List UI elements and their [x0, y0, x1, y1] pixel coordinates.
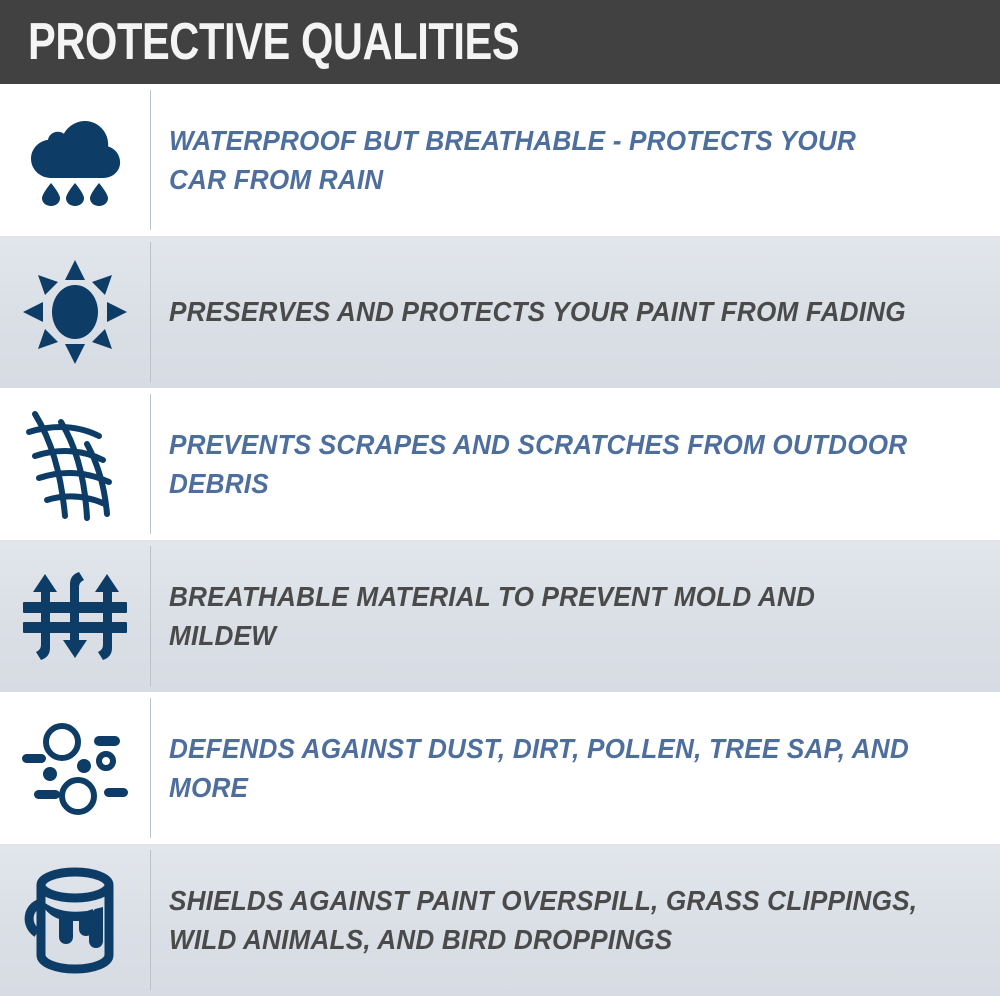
- feature-text: SHIELDS AGAINST PAINT OVERSPILL, GRASS C…: [169, 881, 920, 959]
- icon-cell: [0, 84, 150, 236]
- rain-cloud-icon: [19, 110, 131, 210]
- feature-text: DEFENDS AGAINST DUST, DIRT, POLLEN, TREE…: [169, 729, 920, 807]
- feature-row: SHIELDS AGAINST PAINT OVERSPILL, GRASS C…: [0, 844, 1000, 996]
- feature-row: DEFENDS AGAINST DUST, DIRT, POLLEN, TREE…: [0, 692, 1000, 844]
- icon-cell: [0, 540, 150, 692]
- airflow-arrows-icon: [23, 562, 127, 670]
- dust-particles-icon: [20, 716, 130, 820]
- icon-cell: [0, 236, 150, 388]
- infographic-page: PROTECTIVE QUALITIES WATERPROOF BUT BREA…: [0, 0, 1000, 1000]
- paint-can-icon: [23, 863, 127, 977]
- text-cell: WATERPROOF BUT BREATHABLE - PROTECTS YOU…: [151, 84, 1000, 236]
- text-cell: BREATHABLE MATERIAL TO PREVENT MOLD AND …: [151, 540, 1000, 692]
- feature-row: PREVENTS SCRAPES AND SCRATCHES FROM OUTD…: [0, 388, 1000, 540]
- feature-list: WATERPROOF BUT BREATHABLE - PROTECTS YOU…: [0, 84, 1000, 996]
- feature-text: PREVENTS SCRAPES AND SCRATCHES FROM OUTD…: [169, 425, 920, 503]
- icon-cell: [0, 692, 150, 844]
- feature-row: WATERPROOF BUT BREATHABLE - PROTECTS YOU…: [0, 84, 1000, 236]
- text-cell: PREVENTS SCRAPES AND SCRATCHES FROM OUTD…: [151, 388, 1000, 540]
- text-cell: PRESERVES AND PROTECTS YOUR PAINT FROM F…: [151, 236, 1000, 388]
- feature-row: PRESERVES AND PROTECTS YOUR PAINT FROM F…: [0, 236, 1000, 388]
- sun-icon: [23, 260, 127, 364]
- header-bar: PROTECTIVE QUALITIES: [0, 0, 1000, 84]
- text-cell: DEFENDS AGAINST DUST, DIRT, POLLEN, TREE…: [151, 692, 1000, 844]
- text-cell: SHIELDS AGAINST PAINT OVERSPILL, GRASS C…: [151, 844, 1000, 996]
- feature-text: BREATHABLE MATERIAL TO PREVENT MOLD AND …: [169, 577, 920, 655]
- page-title: PROTECTIVE QUALITIES: [28, 16, 519, 68]
- icon-cell: [0, 844, 150, 996]
- feature-row: BREATHABLE MATERIAL TO PREVENT MOLD AND …: [0, 540, 1000, 692]
- scratch-crosshatch-icon: [21, 406, 129, 522]
- icon-cell: [0, 388, 150, 540]
- feature-text: WATERPROOF BUT BREATHABLE - PROTECTS YOU…: [169, 121, 920, 199]
- feature-text: PRESERVES AND PROTECTS YOUR PAINT FROM F…: [169, 292, 906, 331]
